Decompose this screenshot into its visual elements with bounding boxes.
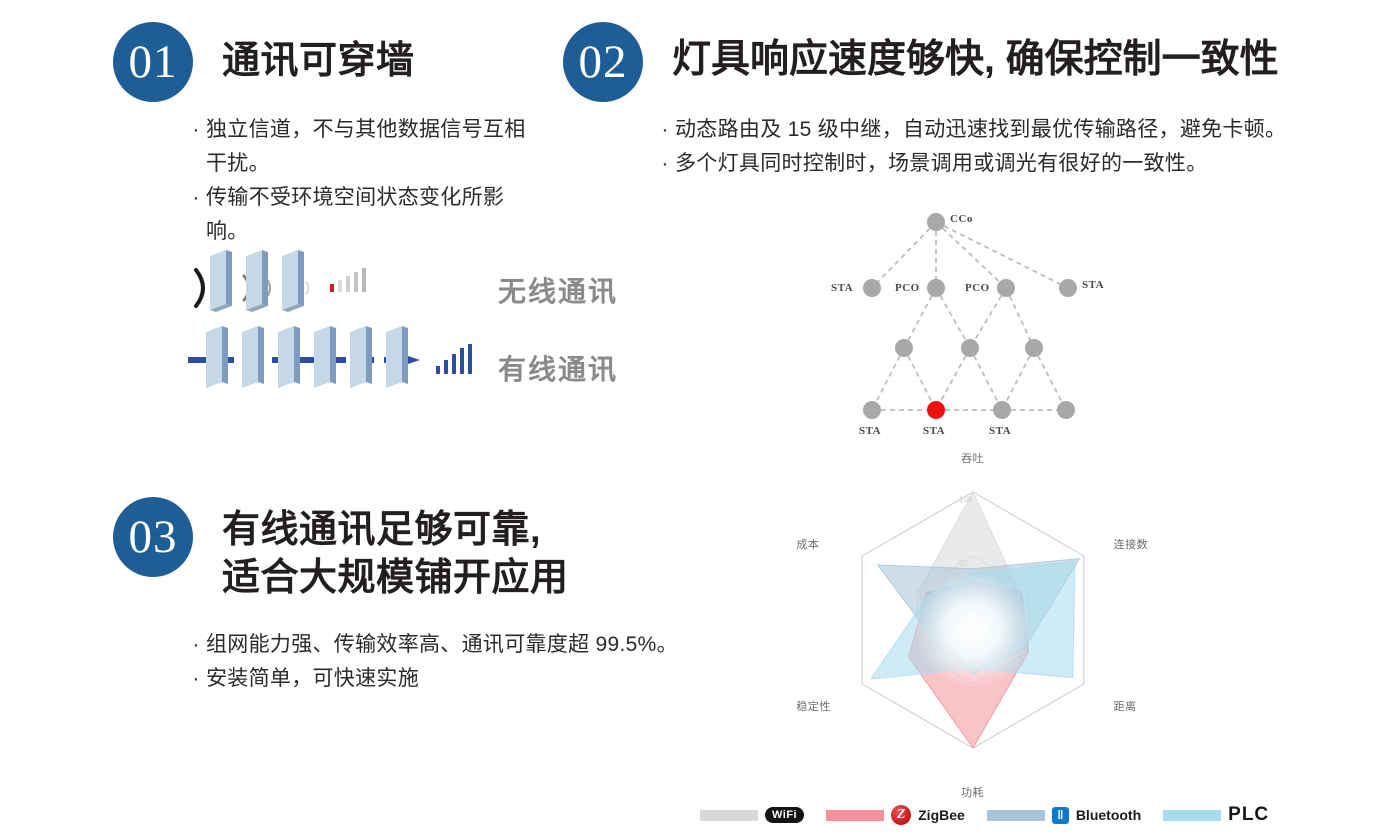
legend-swatch-zigbee — [826, 810, 884, 821]
infographic-slide: 01 通讯可穿墙 · 独立信道，不与其他数据信号互相干扰。 · 传输不受环境空间… — [0, 0, 1400, 839]
radar-chart-legend: WiFi Z ZigBee ‖ Bluetooth PLC — [700, 795, 1260, 835]
legend-item-plc: PLC — [1163, 804, 1269, 826]
wifi-logo-text: WiFi — [765, 807, 804, 823]
mesh-node — [1025, 339, 1043, 357]
mesh-edge — [904, 348, 936, 410]
wireless-comm-label: 无线通讯 — [498, 270, 618, 310]
mesh-node-label: PCO — [965, 282, 990, 294]
bullet-text: 安装简单，可快速实施 — [206, 662, 806, 696]
radar-tick-label: 50 — [959, 559, 968, 568]
section-title-02: 灯具响应速度够快, 确保控制一致性 — [672, 36, 1279, 84]
bullet-item: · 独立信道，不与其他数据信号互相干扰。 — [186, 113, 546, 181]
radar-axis-label-2: 距离 — [1114, 698, 1137, 714]
mesh-node — [863, 401, 881, 419]
legend-swatch-wifi — [700, 810, 758, 821]
wired-comm-label: 有线通讯 — [498, 348, 618, 388]
bullet-dot-icon: · — [186, 181, 206, 215]
radar-tick-label: 100 — [959, 495, 973, 504]
wifi-logo-icon: WiFi — [765, 807, 804, 823]
section-badge-02: 02 — [563, 22, 643, 102]
mesh-node-label: STA — [859, 425, 881, 437]
section-badge-01: 01 — [113, 22, 193, 102]
legend-label-bluetooth: Bluetooth — [1076, 807, 1141, 823]
bluetooth-logo-icon: ‖ — [1052, 807, 1069, 824]
mesh-node-label: PCO — [895, 282, 920, 294]
radar-axis-label-5: 成本 — [796, 536, 819, 552]
bullet-dot-icon: · — [655, 113, 675, 147]
mesh-edge — [1034, 348, 1066, 410]
mesh-edge — [936, 222, 1068, 288]
bullet-dot-icon: · — [186, 628, 206, 662]
bullet-text: 独立信道，不与其他数据信号互相干扰。 — [206, 113, 546, 181]
legend-label-plc: PLC — [1228, 804, 1269, 826]
legend-swatch-plc — [1163, 810, 1221, 821]
mesh-node-label: STA — [989, 425, 1011, 437]
mesh-node-label: CCo — [950, 213, 973, 225]
mesh-node-label: STA — [923, 425, 945, 437]
mesh-node — [997, 279, 1015, 297]
radar-center-glow — [915, 572, 1031, 688]
section-body-03: · 组网能力强、传输效率高、通讯可靠度超 99.5%。 · 安装简单，可快速实施 — [186, 628, 806, 696]
bullet-text: 传输不受环境空间状态变化所影响。 — [206, 181, 546, 249]
bullet-item: · 动态路由及 15 级中继，自动迅速找到最优传输路径，避免卡顿。 — [655, 113, 1315, 147]
mesh-edge — [872, 222, 936, 288]
zigbee-mark-icon: Z — [891, 805, 911, 825]
bullet-item: · 安装简单，可快速实施 — [186, 662, 806, 696]
mesh-node-active — [927, 401, 945, 419]
legend-item-bluetooth: ‖ Bluetooth — [987, 807, 1141, 824]
bullet-item: · 传输不受环境空间状态变化所影响。 — [186, 181, 546, 249]
mesh-edge — [970, 288, 1006, 348]
mesh-node — [961, 339, 979, 357]
mesh-node — [863, 279, 881, 297]
bullet-text: 动态路由及 15 级中继，自动迅速找到最优传输路径，避免卡顿。 — [675, 113, 1315, 147]
mesh-network-svg — [820, 200, 1130, 455]
mesh-edge — [970, 348, 1002, 410]
legend-item-zigbee: Z ZigBee — [826, 805, 965, 825]
bullet-text: 多个灯具同时控制时，场景调用或调光有很好的一致性。 — [675, 147, 1315, 181]
mesh-node — [927, 279, 945, 297]
radar-chart-svg: 10050 — [788, 462, 1158, 792]
mesh-edge — [1002, 348, 1034, 410]
wall-penetration-illustration: 无线通讯 有线通讯 — [180, 248, 650, 398]
section-body-01: · 独立信道，不与其他数据信号互相干扰。 · 传输不受环境空间状态变化所影响。 — [186, 113, 546, 249]
bullet-item: · 多个灯具同时控制时，场景调用或调光有很好的一致性。 — [655, 147, 1315, 181]
zigbee-logo-icon: Z — [891, 805, 911, 825]
mesh-node — [927, 213, 945, 231]
bluetooth-mark-icon: ‖ — [1052, 807, 1069, 824]
legend-swatch-bluetooth — [987, 810, 1045, 821]
mesh-node — [895, 339, 913, 357]
mesh-edge — [904, 288, 936, 348]
bullet-dot-icon: · — [655, 147, 675, 181]
technology-comparison-radar-chart: 10050 吞吐连接数距离功耗稳定性成本 — [788, 462, 1158, 792]
mesh-node — [1057, 401, 1075, 419]
mesh-edge — [936, 348, 970, 410]
mesh-network-diagram: CCoSTAPCOPCOSTASTASTASTA — [820, 200, 1130, 455]
wireless-row — [196, 250, 366, 312]
mesh-node — [1059, 279, 1077, 297]
bullet-dot-icon: · — [186, 662, 206, 696]
wired-row — [188, 326, 472, 388]
bullet-item: · 组网能力强、传输效率高、通讯可靠度超 99.5%。 — [186, 628, 806, 662]
radar-axis-label-0: 吞吐 — [961, 450, 984, 466]
legend-item-wifi: WiFi — [700, 807, 804, 823]
bullet-dot-icon: · — [186, 113, 206, 147]
mesh-edge — [872, 348, 904, 410]
section-badge-03: 03 — [113, 497, 193, 577]
section-body-02: · 动态路由及 15 级中继，自动迅速找到最优传输路径，避免卡顿。 · 多个灯具… — [655, 113, 1315, 181]
mesh-edge — [936, 222, 1006, 288]
legend-label-zigbee: ZigBee — [918, 807, 965, 823]
section-title-03: 有线通讯足够可靠, 适合大规模铺开应用 — [222, 507, 569, 602]
radar-axis-label-1: 连接数 — [1114, 536, 1149, 552]
radar-axis-label-4: 稳定性 — [796, 698, 831, 714]
bullet-text: 组网能力强、传输效率高、通讯可靠度超 99.5%。 — [206, 628, 806, 662]
mesh-edge — [1006, 288, 1034, 348]
mesh-node — [993, 401, 1011, 419]
mesh-edge — [936, 288, 970, 348]
mesh-node-label: STA — [1082, 279, 1104, 291]
mesh-node-label: STA — [831, 282, 853, 294]
section-title-01: 通讯可穿墙 — [222, 38, 415, 84]
